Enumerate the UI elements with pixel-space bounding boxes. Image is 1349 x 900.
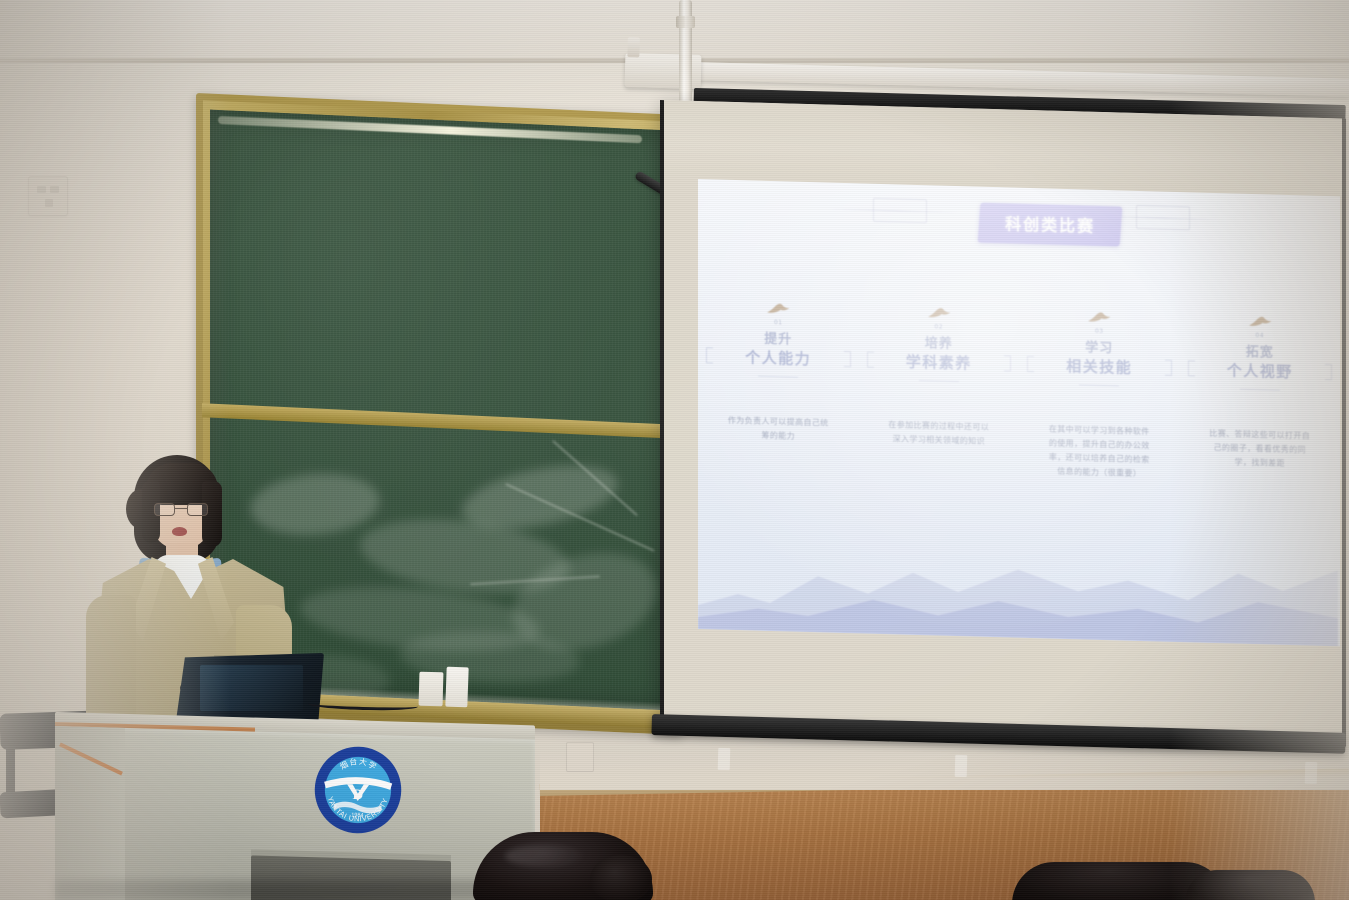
column-underline xyxy=(1079,384,1119,386)
paper-cup xyxy=(445,667,468,708)
deco-box-left xyxy=(873,198,927,223)
slide-column: 02 培养 学科素养 在参加比赛的过程中还可以深入学习相关领域的知识 xyxy=(859,303,1020,477)
flying-bird-icon xyxy=(926,305,952,322)
tissue-box xyxy=(419,672,444,707)
column-body-text: 在参加比赛的过程中还可以深入学习相关领域的知识 xyxy=(885,418,993,449)
wall-outlet[interactable] xyxy=(566,742,594,772)
column-tag: 02 xyxy=(865,322,1014,333)
column-underline xyxy=(919,380,959,382)
column-underline xyxy=(758,375,798,377)
screen-wall-clip xyxy=(718,748,731,770)
column-tag: 01 xyxy=(704,317,853,328)
audience-hair-highlight xyxy=(505,845,585,867)
slide-title: 科创类比赛 xyxy=(1005,210,1095,236)
audience-hair-bun xyxy=(590,855,652,900)
vignette-left xyxy=(0,0,230,900)
bracket-left-icon xyxy=(867,352,874,368)
bracket-left-icon xyxy=(1027,356,1034,372)
column-body-text: 在其中可以学习到各种软件的使用，提升自己的办公效率，还可以培养自己的检索信息的能… xyxy=(1045,422,1153,481)
slide-column: 01 提升 个人能力 作为负责人可以提高自己统筹的能力 xyxy=(698,299,859,473)
column-heading-main: 个人能力 xyxy=(704,347,853,371)
bracket-right-icon xyxy=(844,351,851,367)
column-body-text: 作为负责人可以提高自己统筹的能力 xyxy=(724,413,832,444)
bracket-right-icon xyxy=(1004,355,1011,371)
column-heading-main: 学科素养 xyxy=(865,352,1014,376)
slide-title-banner: 科创类比赛 xyxy=(978,203,1123,247)
flying-bird-icon xyxy=(1086,310,1112,327)
classroom-photo: 科创类比赛 01 提升 个人能力 作为负责人可以提高自己统筹的能 xyxy=(0,0,1349,900)
flying-bird-icon xyxy=(765,301,791,318)
yantai-university-logo: D 1984 烟台大学 YANTAI UNIVERSITY xyxy=(311,743,405,837)
column-heading-main: 相关技能 xyxy=(1025,356,1174,380)
slide-column: 03 学习 相关技能 在其中可以学习到各种软件的使用，提升自己的办公效率，还可以… xyxy=(1019,308,1180,482)
bracket-left-icon xyxy=(706,347,713,363)
pole-collar xyxy=(676,16,695,28)
vignette-right xyxy=(1169,0,1349,900)
screen-wall-clip xyxy=(955,755,968,777)
column-tag: 03 xyxy=(1025,326,1174,337)
logo-letter: D xyxy=(352,787,363,803)
